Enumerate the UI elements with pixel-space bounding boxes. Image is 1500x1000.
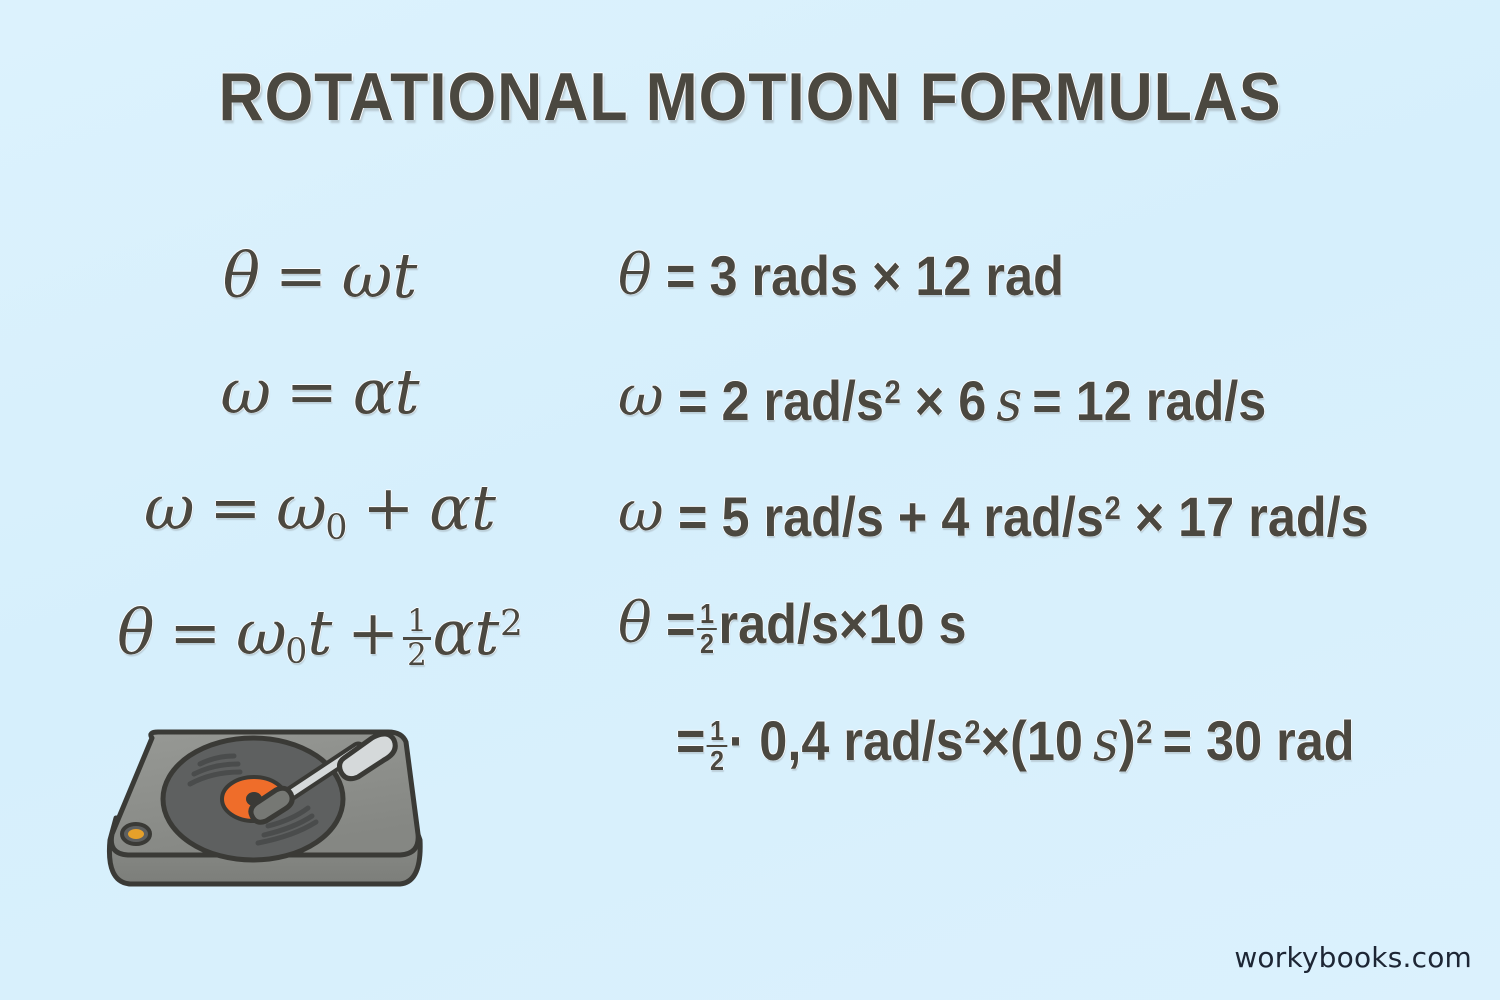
watermark: workybooks.com bbox=[1234, 941, 1472, 974]
formula-row: ω = αt bbox=[70, 334, 570, 450]
example-theta-half-body: =12rad/s×10 s bbox=[652, 566, 967, 682]
example-omega-sum-body: = 5 rad/s + 4 rad/s2 × 17 rad/s bbox=[664, 450, 1369, 575]
example-omega-symbol: ω bbox=[618, 364, 664, 429]
poster-canvas: ROTATIONAL MOTION FORMULAS θ = ωt ω = αt… bbox=[0, 0, 1500, 1000]
control-knob bbox=[122, 824, 150, 844]
example-theta-symbol: θ bbox=[618, 243, 652, 308]
example-row-continuation: =12· 0,4 rad/s2×(10 s)2 = 30 rad bbox=[618, 682, 1478, 782]
example-row: θ = 3 rads × 12 rad bbox=[618, 218, 1478, 334]
example-theta-result-body: =12· 0,4 rad/s2×(10 s)2 = 30 rad bbox=[676, 682, 1355, 792]
formula-omega-omega0-alpha-t: ω = ω0 + αt bbox=[144, 471, 496, 544]
example-theta-half-symbol: θ bbox=[618, 591, 652, 656]
example-omega-body: = 2 rad/s2 × 6 s = 12 rad/s bbox=[664, 334, 1266, 460]
formula-row: θ = ω0t +12αt2 bbox=[70, 566, 570, 682]
example-row: θ =12rad/s×10 s bbox=[618, 566, 1478, 682]
turntable-illustration bbox=[96, 722, 436, 894]
vinyl-record bbox=[163, 738, 343, 860]
example-row: ω = 2 rad/s2 × 6 s = 12 rad/s bbox=[618, 334, 1478, 450]
example-omega-sum-symbol: ω bbox=[618, 479, 664, 544]
formula-column-right: θ = 3 rads × 12 rad ω = 2 rad/s2 × 6 s =… bbox=[618, 218, 1478, 782]
example-theta-body: = 3 rads × 12 rad bbox=[652, 218, 1064, 334]
formula-theta-omega-t: θ = ωt bbox=[223, 239, 417, 312]
page-title: ROTATIONAL MOTION FORMULAS bbox=[60, 58, 1440, 136]
formula-omega-alpha-t: ω = αt bbox=[220, 355, 419, 428]
formula-row: ω = ω0 + αt bbox=[70, 450, 570, 566]
example-row: ω = 5 rad/s + 4 rad/s2 × 17 rad/s bbox=[618, 450, 1478, 566]
formula-row: θ = ωt bbox=[70, 218, 570, 334]
formula-theta-omega0t-half-alpha-t2: θ = ω0t +12αt2 bbox=[117, 596, 523, 669]
formula-column-left: θ = ωt ω = αt ω = ω0 + αt θ = ω0t +12αt2 bbox=[70, 218, 570, 682]
